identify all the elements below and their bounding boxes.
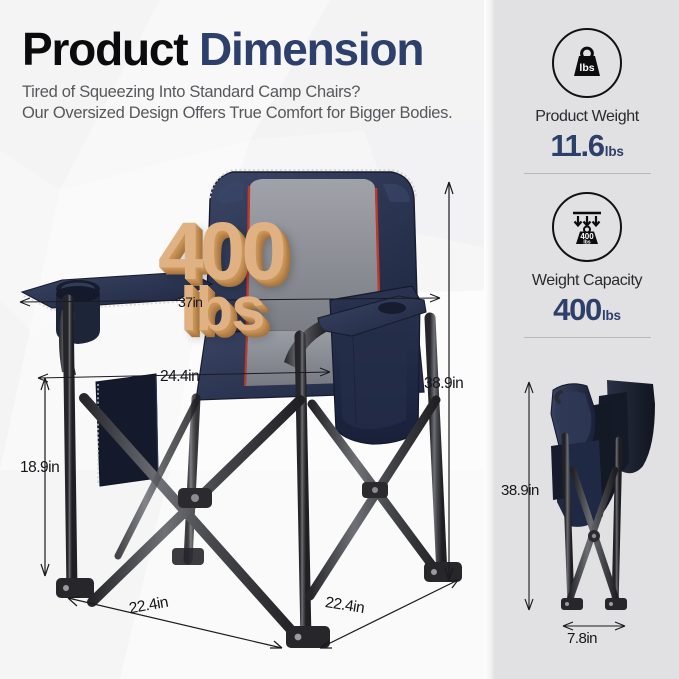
svg-text:lbs: lbs xyxy=(583,240,590,246)
product-weight-card: lbs Product Weight 11.6lbs xyxy=(495,28,679,162)
dimension-label-seat-depth: 24.4in xyxy=(160,368,199,386)
dimension-label-seat-height: 18.9in xyxy=(20,459,59,477)
dimline-base-left xyxy=(68,597,282,648)
dimension-label-total-height: 38.9in xyxy=(424,375,463,393)
subtitle-line-2: Our Oversized Design Offers True Comfort… xyxy=(22,103,492,124)
dimline-seat-height xyxy=(41,378,49,576)
page-title: Product Dimension xyxy=(22,26,492,73)
product-weight-label: Product Weight xyxy=(495,108,679,126)
folded-chair-svg xyxy=(495,366,679,656)
product-weight-unit: lbs xyxy=(605,144,624,159)
page-title-part2: Dimension xyxy=(199,23,423,75)
dimension-label-arm-width: 37in xyxy=(178,294,202,310)
rail-divider-1 xyxy=(524,173,651,174)
weight-lbs-icon: lbs xyxy=(552,28,622,98)
infographic-page: Product Dimension Tired of Squeezing Int… xyxy=(0,0,679,679)
header: Product Dimension Tired of Squeezing Int… xyxy=(22,26,492,125)
weight-capacity-overlay: 400 lbs xyxy=(158,218,283,336)
right-rail: lbs Product Weight 11.6lbs xyxy=(495,0,679,679)
product-weight-number: 11.6 xyxy=(550,128,603,163)
weight-capacity-card: 400 lbs Weight Capacity 400lbs xyxy=(495,192,679,326)
folded-chair-illustration: 38.9in 7.8in xyxy=(495,366,679,656)
weight-capacity-arrows-icon: 400 lbs xyxy=(552,192,622,262)
subtitle: Tired of Squeezing Into Standard Camp Ch… xyxy=(22,82,492,125)
product-weight-value: 11.6lbs xyxy=(495,130,679,163)
svg-text:lbs: lbs xyxy=(579,62,594,74)
weight-capacity-number: 400 xyxy=(553,292,601,327)
weight-capacity-value: 400lbs xyxy=(495,294,679,327)
rail-divider-2 xyxy=(524,337,651,338)
weight-capacity-unit: lbs xyxy=(602,308,621,323)
weight-capacity-label: Weight Capacity xyxy=(495,272,679,290)
subtitle-line-1: Tired of Squeezing Into Standard Camp Ch… xyxy=(22,82,492,103)
page-title-part1: Product xyxy=(22,23,199,75)
folded-width-label: 7.8in xyxy=(567,630,597,647)
folded-height-label: 38.9in xyxy=(501,482,539,499)
